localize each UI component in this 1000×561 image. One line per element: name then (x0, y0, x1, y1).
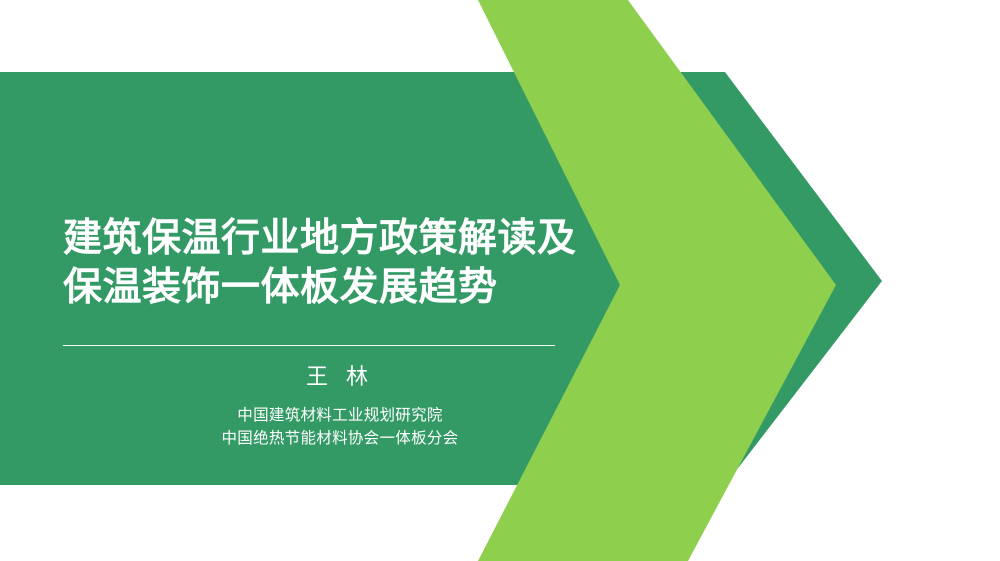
organization-line-1: 中国建筑材料工业规划研究院 (63, 404, 617, 427)
title-line-2: 保温装饰一体板发展趋势 (63, 263, 663, 312)
byline: 王 林 中国建筑材料工业规划研究院 中国绝热节能材料协会一体板分会 (63, 362, 617, 450)
title-line-1: 建筑保温行业地方政策解读及 (63, 214, 663, 263)
author-name: 王 林 (63, 362, 617, 392)
page-title: 建筑保温行业地方政策解读及 保温装饰一体板发展趋势 (63, 214, 663, 312)
title-divider-rule (63, 345, 555, 346)
title-slide: 建筑保温行业地方政策解读及 保温装饰一体板发展趋势 王 林 中国建筑材料工业规划… (0, 0, 1000, 561)
organization-list: 中国建筑材料工业规划研究院 中国绝热节能材料协会一体板分会 (63, 404, 617, 450)
slide-text-layer: 建筑保温行业地方政策解读及 保温装饰一体板发展趋势 王 林 中国建筑材料工业规划… (0, 0, 1000, 561)
organization-line-2: 中国绝热节能材料协会一体板分会 (63, 427, 617, 450)
